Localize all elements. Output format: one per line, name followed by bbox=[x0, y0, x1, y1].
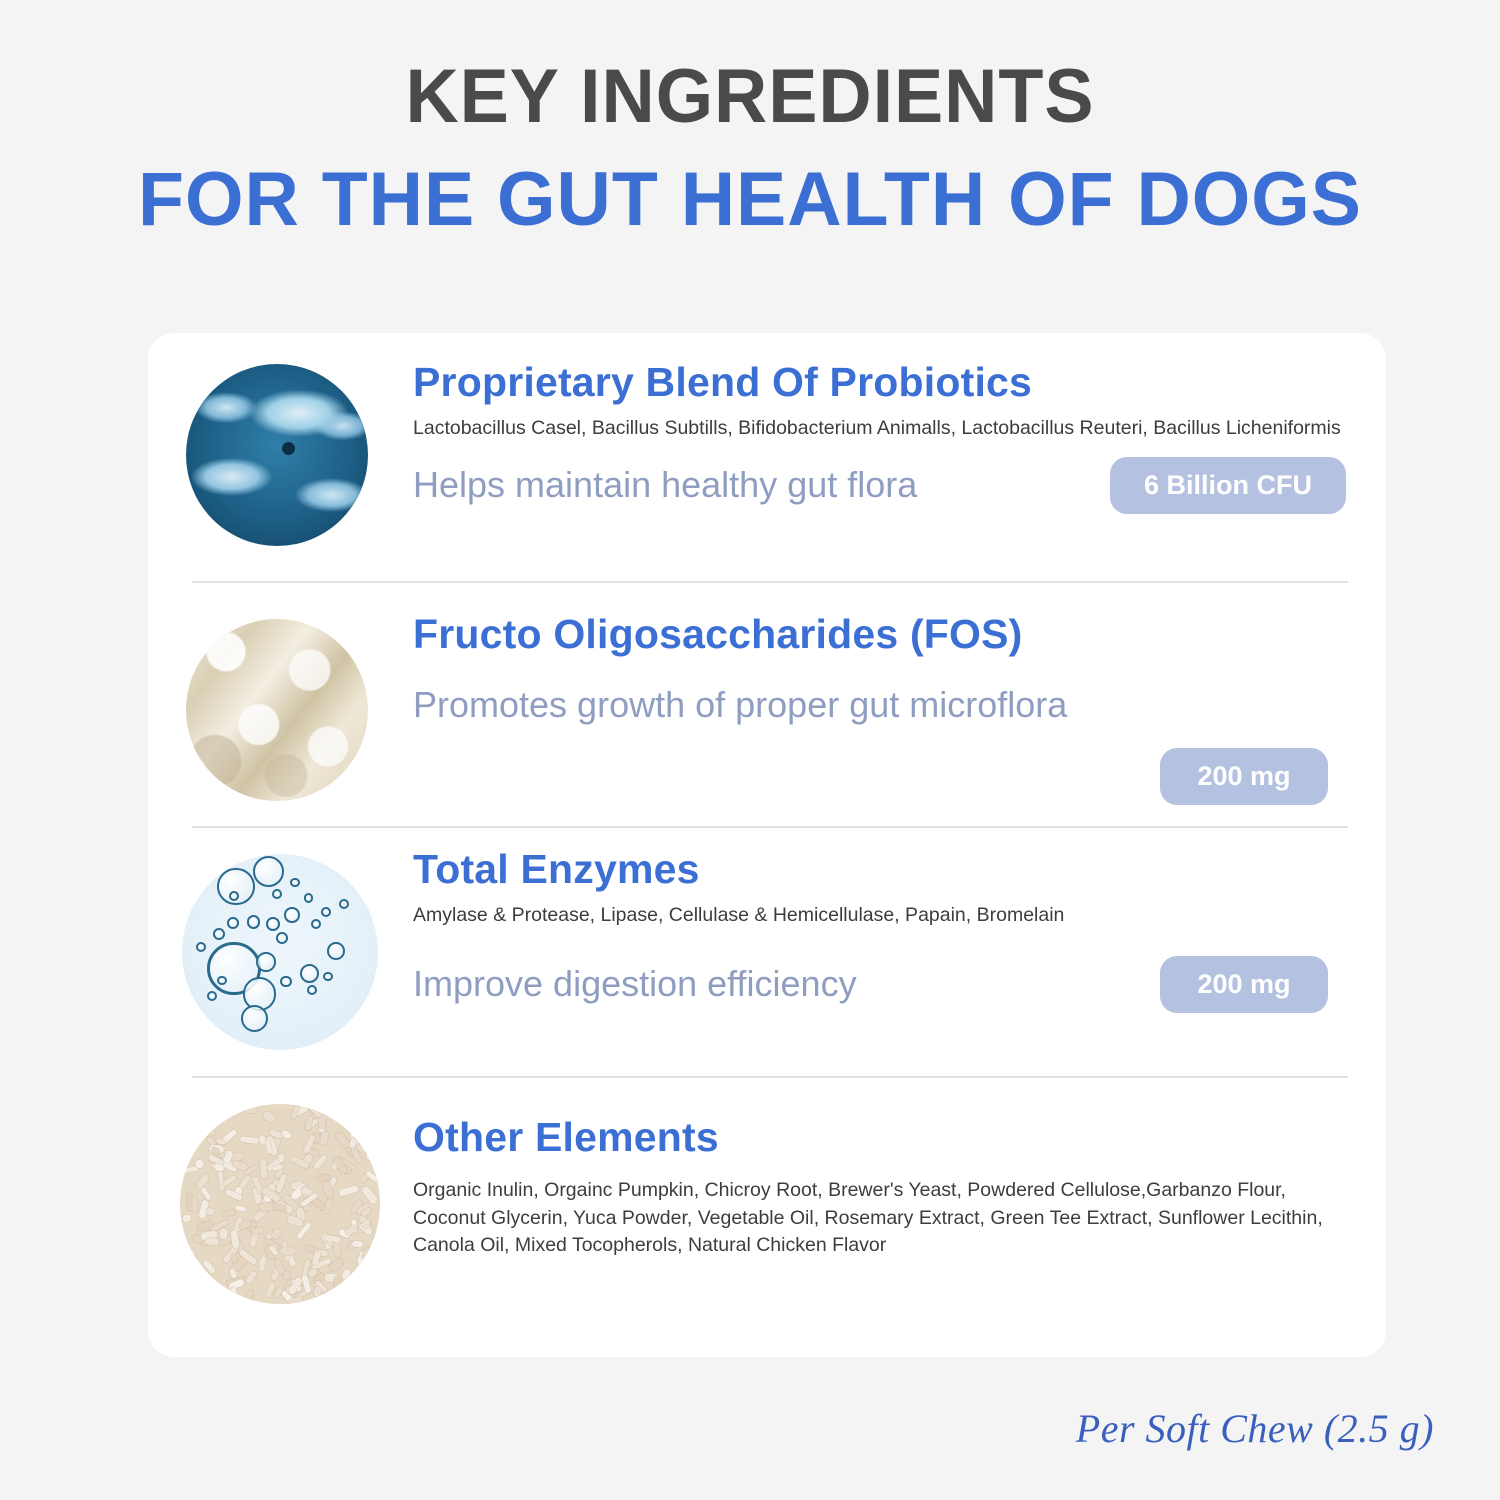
ingredient-row-probiotics: Proprietary Blend Of Probiotics Lactobac… bbox=[148, 333, 1386, 581]
serving-size-note: Per Soft Chew (2.5 g) bbox=[1076, 1405, 1434, 1452]
probiotics-bacteria-photo bbox=[186, 364, 368, 546]
ingredient-amount-badge: 200 mg bbox=[1160, 956, 1328, 1013]
ingredient-list-line-3: Canola Oil, Mixed Tocopherols, Natural C… bbox=[413, 1232, 1346, 1260]
ingredient-title: Proprietary Blend Of Probiotics bbox=[413, 359, 1346, 406]
ingredient-description: Improve digestion efficiency bbox=[413, 963, 857, 1005]
enzymes-bubbles-photo bbox=[182, 854, 378, 1050]
ingredient-description: Helps maintain healthy gut flora bbox=[413, 464, 917, 506]
ingredient-list-line-2: Coconut Glycerin, Yuca Powder, Vegetable… bbox=[413, 1205, 1346, 1233]
ingredient-amount-badge: 200 mg bbox=[1160, 748, 1328, 805]
ingredient-row-enzymes: Total Enzymes Amylase & Protease, Lipase… bbox=[148, 826, 1386, 1076]
row-divider bbox=[192, 826, 1348, 828]
ingredient-title: Fructo Oligosaccharides (FOS) bbox=[413, 611, 1346, 658]
ingredient-list: Lactobacillus Casel, Bacillus Subtills, … bbox=[413, 415, 1346, 443]
ingredient-list: Amylase & Protease, Lipase, Cellulase & … bbox=[413, 902, 1346, 930]
ingredient-list-line-1: Organic Inulin, Orgainc Pumpkin, Chicroy… bbox=[413, 1177, 1346, 1205]
other-elements-pellets-photo bbox=[180, 1104, 380, 1304]
ingredient-row-other-elements: Other Elements Organic Inulin, Orgainc P… bbox=[148, 1076, 1386, 1357]
page-subtitle: FOR THE GUT HEALTH OF DOGS bbox=[8, 160, 1493, 240]
ingredient-title: Other Elements bbox=[413, 1114, 1346, 1161]
fos-powder-photo bbox=[186, 619, 368, 801]
ingredients-card: Proprietary Blend Of Probiotics Lactobac… bbox=[148, 333, 1386, 1357]
row-divider bbox=[192, 1076, 1348, 1078]
page-title: KEY INGREDIENTS bbox=[23, 58, 1478, 136]
page-header: KEY INGREDIENTS FOR THE GUT HEALTH OF DO… bbox=[0, 0, 1500, 239]
ingredient-description: Promotes growth of proper gut microflora bbox=[413, 684, 1346, 726]
row-divider bbox=[192, 581, 1348, 583]
ingredient-title: Total Enzymes bbox=[413, 846, 1346, 893]
ingredient-row-fos: Fructo Oligosaccharides (FOS) Promotes g… bbox=[148, 581, 1386, 826]
ingredient-amount-badge: 6 Billion CFU bbox=[1110, 457, 1346, 514]
